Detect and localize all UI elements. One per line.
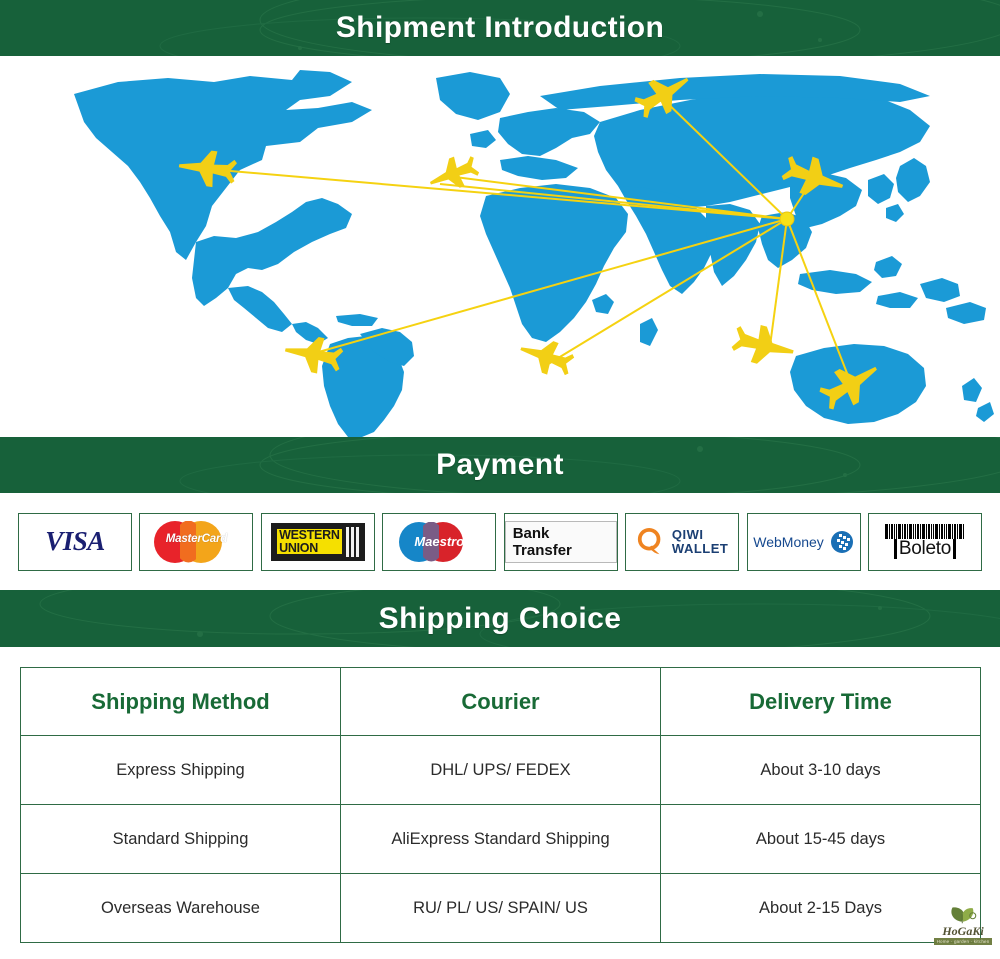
visa-logo-text: VISA <box>45 526 105 557</box>
boleto-logo-icon: Boleto <box>885 524 964 559</box>
leaf-logo-icon <box>948 905 978 925</box>
payment-method-mastercard[interactable]: MasterCard <box>139 513 253 571</box>
payment-method-bank-transfer[interactable]: Bank Transfer <box>504 513 618 571</box>
column-header-shipping-method: Shipping Method <box>21 668 341 736</box>
cell-courier: RU/ PL/ US/ SPAIN/ US <box>341 874 661 943</box>
world-map-section <box>0 56 1000 437</box>
bank-transfer-logo-text: Bank Transfer <box>505 521 617 563</box>
boleto-logo-text: Boleto <box>894 539 956 559</box>
cell-delivery-time: About 3-10 days <box>661 736 981 805</box>
mastercard-logo-text: MasterCard <box>154 533 238 545</box>
cell-shipping-method: Standard Shipping <box>21 805 341 874</box>
world-map-icon <box>0 56 1000 437</box>
banner-title: Payment <box>436 448 564 482</box>
brand-watermark: HoGaKi Home · garden · kitchen <box>932 905 994 947</box>
mastercard-logo-icon: MasterCard <box>154 521 238 563</box>
payment-method-qiwi-wallet[interactable]: QIWI WALLET <box>625 513 739 571</box>
cell-shipping-method: Express Shipping <box>21 736 341 805</box>
boleto-barcode-icon <box>885 524 964 539</box>
payment-method-visa[interactable]: VISA <box>18 513 132 571</box>
banner-payment: Payment <box>0 437 1000 493</box>
cell-delivery-time: About 15-45 days <box>661 805 981 874</box>
cell-shipping-method: Overseas Warehouse <box>21 874 341 943</box>
shipping-choice-table: Shipping Method Courier Delivery Time Ex… <box>20 667 981 943</box>
payment-methods-row: VISA MasterCard WESTERN UNION Maestro Ba… <box>0 493 1000 590</box>
payment-method-webmoney[interactable]: WebMoney <box>747 513 861 571</box>
banner-shipping-choice: Shipping Choice <box>0 590 1000 647</box>
column-header-delivery-time: Delivery Time <box>661 668 981 736</box>
banner-title: Shipment Introduction <box>336 11 664 45</box>
western-union-line1: WESTERN <box>277 529 341 542</box>
western-union-bars-icon <box>346 527 359 557</box>
shipping-hub-dot <box>780 212 794 226</box>
cell-courier: AliExpress Standard Shipping <box>341 805 661 874</box>
column-header-courier: Courier <box>341 668 661 736</box>
table-header-row: Shipping Method Courier Delivery Time <box>21 668 981 736</box>
brand-tagline: Home · garden · kitchen <box>934 938 993 945</box>
payment-method-boleto[interactable]: Boleto <box>868 513 982 571</box>
cell-courier: DHL/ UPS/ FEDEX <box>341 736 661 805</box>
webmoney-globe-icon <box>830 530 854 554</box>
table-row: Overseas Warehouse RU/ PL/ US/ SPAIN/ US… <box>21 874 981 943</box>
table-row: Express Shipping DHL/ UPS/ FEDEX About 3… <box>21 736 981 805</box>
western-union-line2: UNION <box>277 542 341 555</box>
western-union-logo-icon: WESTERN UNION <box>271 523 364 561</box>
banner-title: Shipping Choice <box>379 602 622 636</box>
payment-method-western-union[interactable]: WESTERN UNION <box>261 513 375 571</box>
qiwi-line1: QIWI <box>672 528 728 542</box>
maestro-logo-text: Maestro <box>399 534 479 549</box>
qiwi-line2: WALLET <box>672 542 728 556</box>
table-row: Standard Shipping AliExpress Standard Sh… <box>21 805 981 874</box>
payment-method-maestro[interactable]: Maestro <box>382 513 496 571</box>
qiwi-q-icon <box>636 527 666 557</box>
maestro-logo-icon: Maestro <box>399 522 479 562</box>
webmoney-logo-text: WebMoney <box>753 534 824 550</box>
banner-shipment-introduction: Shipment Introduction <box>0 0 1000 56</box>
brand-name: HoGaKi <box>942 925 983 937</box>
